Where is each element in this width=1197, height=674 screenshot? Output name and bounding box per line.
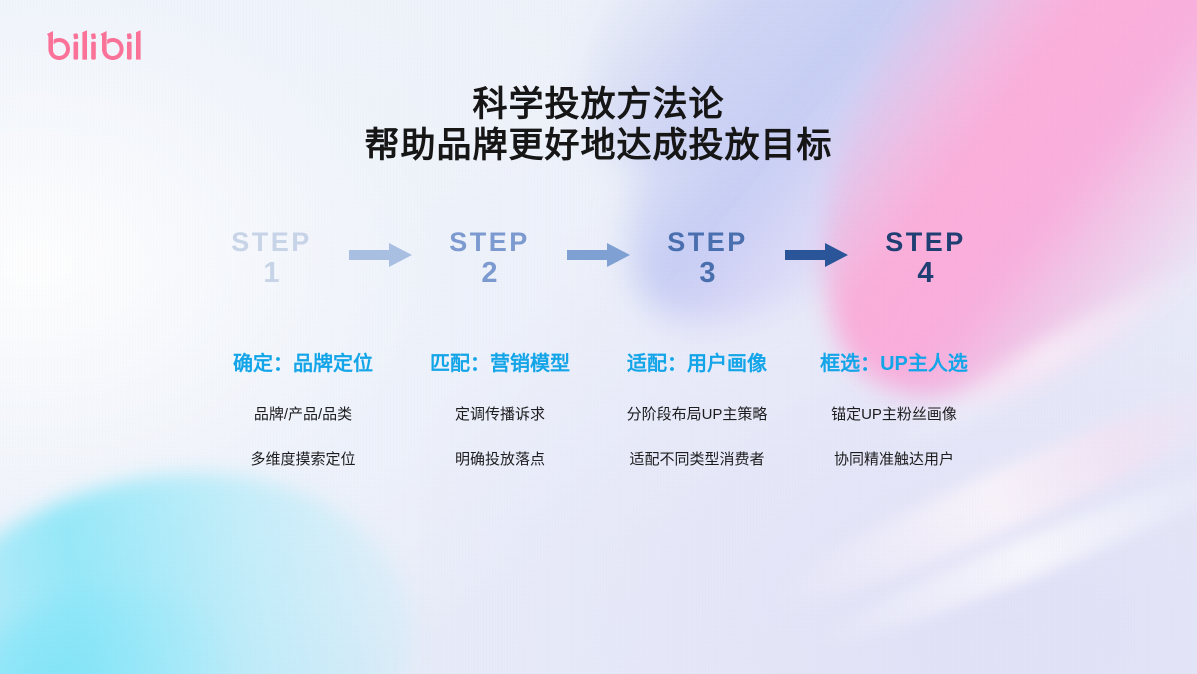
arrow-step-2-to-3 (556, 228, 642, 268)
column-3-item-2: 适配不同类型消费者 (599, 451, 796, 469)
arrow-right-icon (567, 242, 631, 268)
step-2: STEP 2 (424, 228, 556, 288)
slide-root: 科学投放方法论 帮助品牌更好地达成投放目标 STEP 1 STEP 2 STEP… (0, 0, 1197, 674)
column-2-heading: 匹配：营销模型 (402, 352, 599, 376)
title-line-1: 科学投放方法论 (0, 84, 1197, 125)
step-2-number: 2 (424, 258, 556, 288)
column-1-item-2: 多维度摸索定位 (205, 451, 402, 469)
column-3-item-1: 分阶段布局UP主策略 (599, 406, 796, 424)
page-title: 科学投放方法论 帮助品牌更好地达成投放目标 (0, 84, 1197, 167)
step-4-word: STEP (860, 228, 992, 256)
column-4: 框选：UP主人选 锚定UP主粉丝画像 协同精准触达用户 (796, 352, 993, 469)
step-4: STEP 4 (860, 228, 992, 288)
step-2-word: STEP (424, 228, 556, 256)
column-1: 确定：品牌定位 品牌/产品/品类 多维度摸索定位 (205, 352, 402, 469)
arrow-right-icon (785, 242, 849, 268)
step-1: STEP 1 (206, 228, 338, 288)
column-2-item-2: 明确投放落点 (402, 451, 599, 469)
step-4-number: 4 (860, 258, 992, 288)
column-2-item-1: 定调传播诉求 (402, 406, 599, 424)
title-line-2: 帮助品牌更好地达成投放目标 (0, 125, 1197, 166)
step-progression: STEP 1 STEP 2 STEP 3 STEP (0, 228, 1197, 310)
arrow-step-1-to-2 (338, 228, 424, 268)
column-4-heading: 框选：UP主人选 (796, 352, 993, 376)
column-3-heading: 适配：用户画像 (599, 352, 796, 376)
arrow-step-3-to-4 (774, 228, 860, 268)
content-columns: 确定：品牌定位 品牌/产品/品类 多维度摸索定位 匹配：营销模型 定调传播诉求 … (0, 352, 1197, 469)
column-3: 适配：用户画像 分阶段布局UP主策略 适配不同类型消费者 (599, 352, 796, 469)
step-1-word: STEP (206, 228, 338, 256)
step-3: STEP 3 (642, 228, 774, 288)
column-2: 匹配：营销模型 定调传播诉求 明确投放落点 (402, 352, 599, 469)
column-4-item-2: 协同精准触达用户 (796, 451, 993, 469)
column-1-item-1: 品牌/产品/品类 (205, 406, 402, 424)
column-4-item-1: 锚定UP主粉丝画像 (796, 406, 993, 424)
bilibili-logo (44, 28, 148, 62)
step-3-word: STEP (642, 228, 774, 256)
step-1-number: 1 (206, 258, 338, 288)
arrow-right-icon (349, 242, 413, 268)
step-3-number: 3 (642, 258, 774, 288)
column-1-heading: 确定：品牌定位 (205, 352, 402, 376)
